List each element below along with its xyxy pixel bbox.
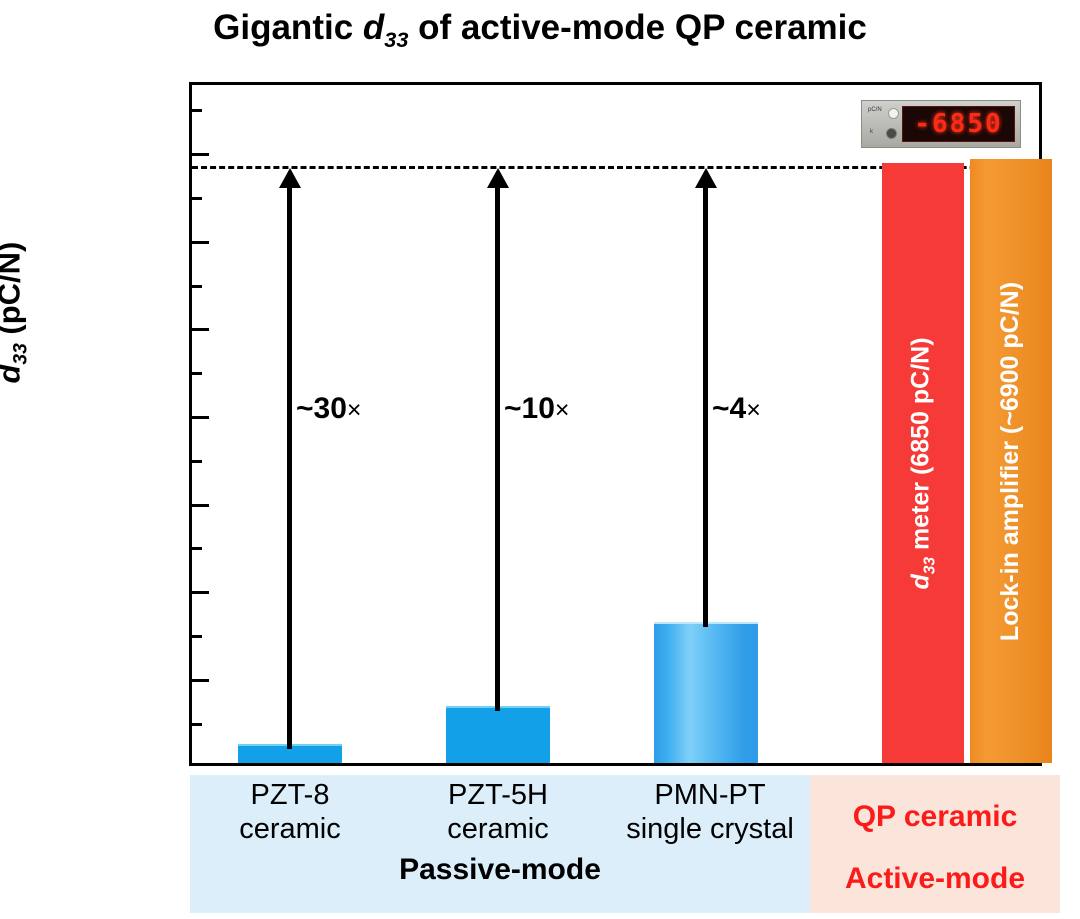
x-category-pmnpt: PMN-PT single crystal xyxy=(600,778,820,846)
meter-knob-label: k xyxy=(870,129,873,135)
meter-knob-icon xyxy=(886,128,897,139)
meter-display-value: -6850 xyxy=(902,106,1015,142)
arrow-pzt8-to-reference xyxy=(287,185,292,749)
bar-pmnpt xyxy=(654,622,758,763)
y-tick-7000 xyxy=(192,153,209,156)
y-tick-2000 xyxy=(192,591,209,594)
x-category-pzt5h: PZT-5H ceramic xyxy=(398,778,598,846)
arrow-head-icon xyxy=(695,168,717,188)
y-tick-minor-7500 xyxy=(192,109,202,112)
arrow-pmnpt-to-reference xyxy=(703,185,708,627)
y-tick-minor-5500 xyxy=(192,285,202,288)
y-tick-minor-2500 xyxy=(192,547,202,550)
annotation-30x: ~30× xyxy=(296,392,362,426)
bar-label-qp-d33-meter: d33 meter (6850 pC/N) xyxy=(882,163,964,763)
y-tick-5000 xyxy=(192,328,209,331)
annotation-10x-times: × xyxy=(555,396,570,424)
x-group-active-mode: Active-mode xyxy=(810,862,1060,896)
y-tick-minor-500 xyxy=(192,723,202,726)
y-tick-4000 xyxy=(192,416,209,419)
bar-label-text: meter (6850 pC/N) xyxy=(907,337,935,557)
bar-label-symbol-sub: 33 xyxy=(922,557,939,574)
bar-qp-lockin: Lock-in amplifier (~6900 pC/N) xyxy=(970,159,1052,763)
bar-pzt5h xyxy=(446,706,550,763)
arrow-head-icon xyxy=(487,168,509,188)
y-axis-unit: (pC/N) xyxy=(0,242,26,344)
x-category-pzt5h-line2: ceramic xyxy=(398,812,598,846)
power-led-icon xyxy=(888,108,899,119)
bar-label-lockin-text: Lock-in amplifier (~6900 pC/N) xyxy=(997,281,1026,640)
x-category-pzt8: PZT-8 ceramic xyxy=(190,778,390,846)
y-tick-6000 xyxy=(192,241,209,244)
meter-panel-left: pC/N k xyxy=(866,101,902,147)
y-tick-minor-6500 xyxy=(192,197,202,200)
x-category-pzt5h-line1: PZT-5H xyxy=(398,778,598,812)
y-tick-minor-1500 xyxy=(192,635,202,638)
page-title: Gigantic d33 of active-mode QP ceramic xyxy=(0,8,1080,53)
x-category-pmnpt-line1: PMN-PT xyxy=(600,778,820,812)
annotation-10x: ~10× xyxy=(504,392,570,426)
x-category-qp-ceramic: QP ceramic xyxy=(810,800,1060,834)
bar-label-qp-lockin: Lock-in amplifier (~6900 pC/N) xyxy=(970,159,1052,763)
arrow-pzt5h-to-reference xyxy=(495,185,500,711)
y-axis-title: d33 (pC/N) xyxy=(0,183,33,443)
x-category-pzt8-line2: ceramic xyxy=(190,812,390,846)
y-axis-symbol-d: d xyxy=(0,365,26,384)
y-tick-1000 xyxy=(192,679,209,682)
x-group-passive-mode: Passive-mode xyxy=(190,853,810,887)
plot-area: d33 meter (6850 pC/N) Lock-in amplifier … xyxy=(189,82,1042,766)
y-tick-minor-3500 xyxy=(192,460,202,463)
y-tick-3000 xyxy=(192,504,209,507)
annotation-4x: ~4× xyxy=(712,392,761,426)
title-post: of active-mode QP ceramic xyxy=(408,8,866,47)
x-category-pzt8-line1: PZT-8 xyxy=(190,778,390,812)
y-axis-symbol-sub: 33 xyxy=(11,343,32,364)
annotation-4x-times: × xyxy=(746,396,761,424)
annotation-4x-number: ~4 xyxy=(712,392,746,425)
annotation-30x-times: × xyxy=(347,396,362,424)
title-symbol-sub: 33 xyxy=(384,27,408,52)
title-pre: Gigantic xyxy=(213,8,363,47)
d33-meter-inset: pC/N k -6850 xyxy=(861,100,1021,148)
arrow-head-icon xyxy=(279,168,301,188)
bar-qp-d33-meter: d33 meter (6850 pC/N) xyxy=(882,163,964,763)
annotation-30x-number: ~30 xyxy=(296,392,347,425)
y-tick-minor-4500 xyxy=(192,372,202,375)
meter-unit-label: pC/N xyxy=(868,107,882,113)
x-category-pmnpt-line2: single crystal xyxy=(600,812,820,846)
annotation-10x-number: ~10 xyxy=(504,392,555,425)
bar-label-symbol-d: d xyxy=(907,574,935,589)
title-symbol-d: d xyxy=(363,8,384,47)
